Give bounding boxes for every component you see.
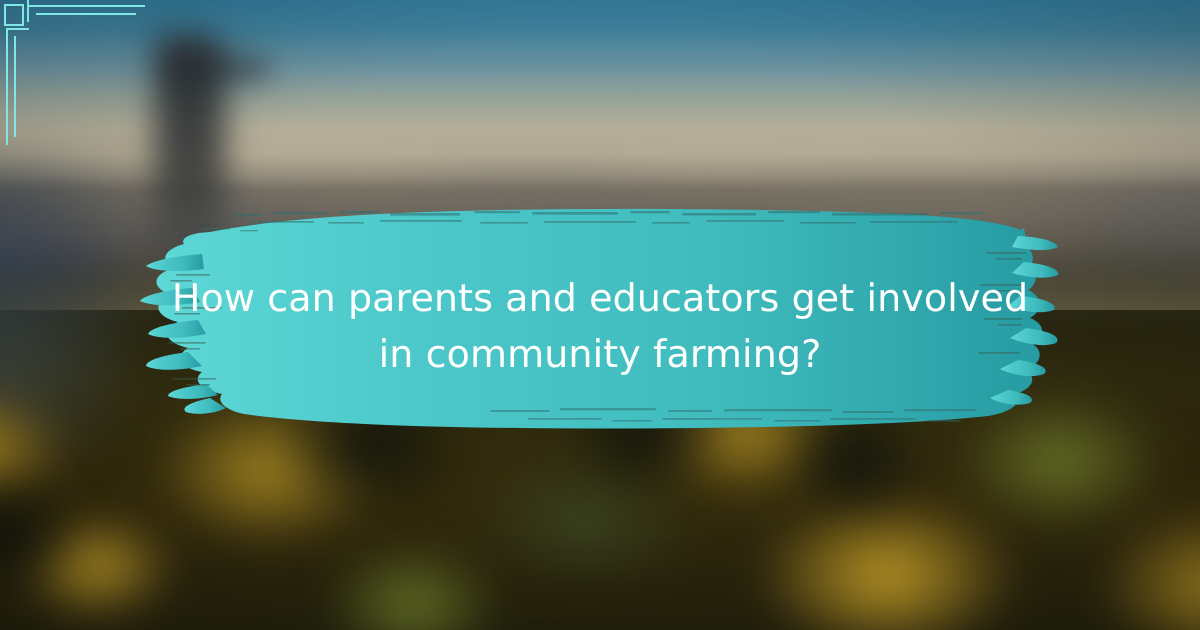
headline-line-2: in community farming?: [170, 326, 1030, 382]
corner-frame-segment: [14, 36, 16, 137]
headline-line-1: How can parents and educators get involv…: [170, 270, 1030, 326]
corner-frame-segment: [28, 5, 145, 7]
poster-canvas: How can parents and educators get involv…: [0, 0, 1200, 630]
corner-frame-segment: [6, 28, 29, 30]
page-title: How can parents and educators get involv…: [170, 270, 1030, 382]
corner-square-icon: [4, 4, 24, 26]
corner-frame-segment: [27, 0, 29, 22]
corner-frame-segment: [36, 13, 136, 15]
corner-frame-segment: [27, 20, 29, 22]
corner-frame-segment: [6, 28, 8, 145]
